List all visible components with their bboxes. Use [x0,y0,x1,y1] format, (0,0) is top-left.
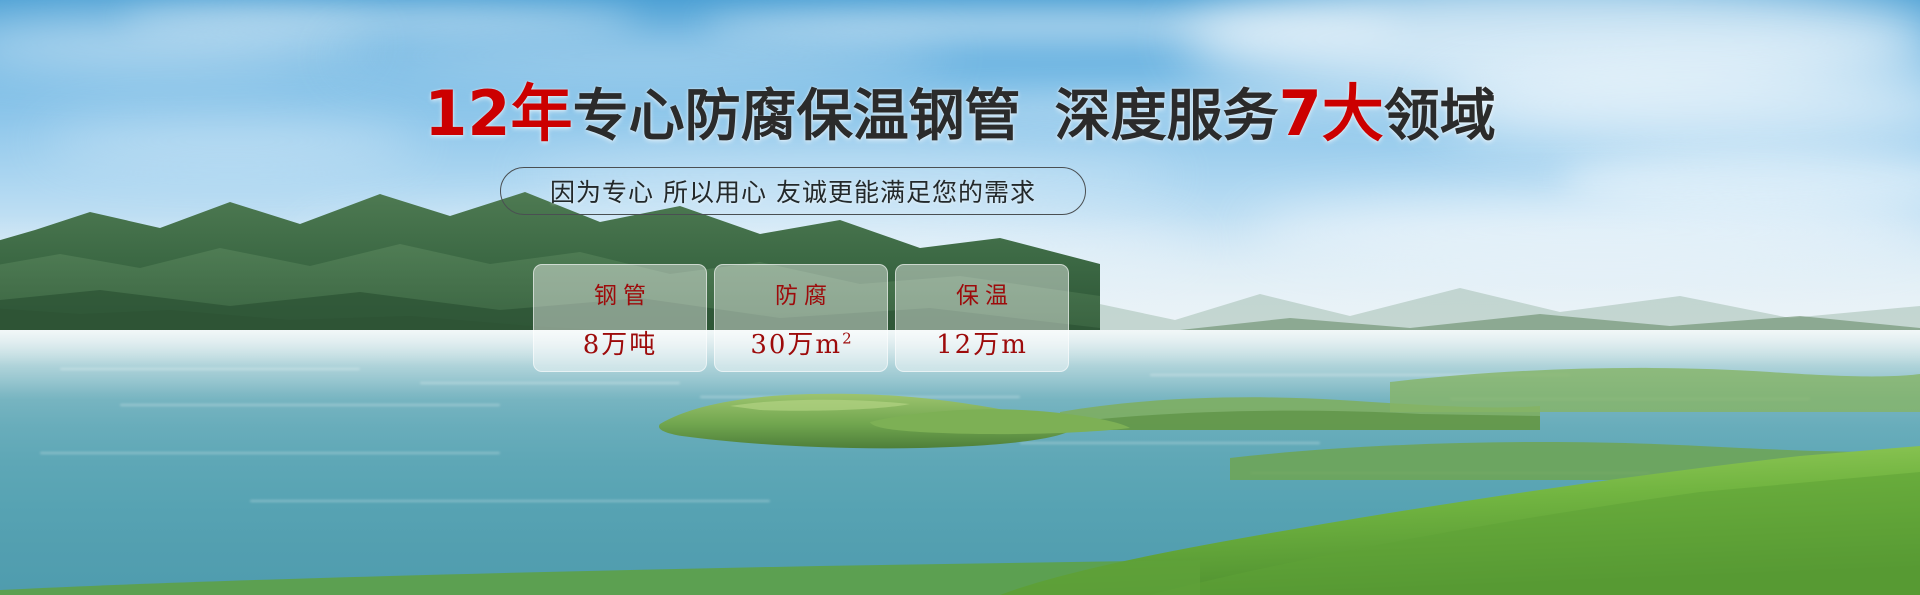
headline-main: 专心防腐保温钢管 [573,84,1021,149]
stat-card: 防腐 30万m2 [714,264,888,372]
headline-years-unit: 年 [511,77,573,150]
stat-value-text: 12万m [936,330,1028,360]
stat-value-text: 30万m [750,330,842,360]
subtitle-text: 因为专心 所以用心 友诚更能满足您的需求 [550,173,1036,209]
stat-card-value: 8万吨 [583,324,658,361]
water-ripple [250,500,770,502]
stat-value-text: 8万吨 [583,330,658,360]
foreground-grass-left [0,560,1200,595]
water-ripple [40,452,500,454]
headline-fields-number: 7 [1279,77,1322,150]
headline-fields: 领域 [1384,84,1496,149]
stat-card-title: 钢管 [588,276,652,310]
stat-card: 钢管 8万吨 [533,264,707,372]
stat-card-value: 30万m2 [750,324,851,361]
stat-card-group: 钢管 8万吨 防腐 30万m2 保温 12万m [533,264,1069,372]
hero-banner: 12年专心防腐保温钢管深度服务7大领域 因为专心 所以用心 友诚更能满足您的需求… [0,0,1920,595]
cloud-streak [120,6,640,32]
stat-card-value: 12万m [936,324,1028,361]
water-ripple [120,404,500,406]
cloud-streak [330,36,950,76]
headline-years-number: 12 [424,77,510,150]
water-ripple [60,368,360,370]
headline-fields-unit: 大 [1322,77,1384,150]
subtitle-pill: 因为专心 所以用心 友诚更能满足您的需求 [500,167,1086,215]
headline: 12年专心防腐保温钢管深度服务7大领域 [0,84,1920,147]
grass-island-tail [870,400,1130,440]
stat-card-title: 保温 [950,276,1014,310]
stat-card: 保温 12万m [895,264,1069,372]
marsh-strip [1390,352,1920,412]
stat-card-title: 防腐 [769,276,833,310]
headline-service: 深度服务 [1055,84,1279,149]
stat-value-sup: 2 [842,329,852,347]
